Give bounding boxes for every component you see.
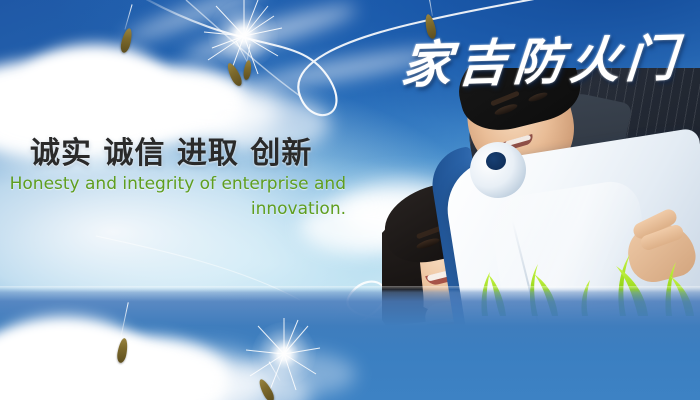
swoosh-trail	[96, 236, 300, 300]
woman-pendant	[444, 344, 457, 357]
grass-blades	[470, 236, 700, 316]
promotional-banner: 家吉防火门 诚实 诚信 进取 创新 Honesty and integrity …	[0, 0, 700, 400]
slogan-english: Honesty and integrity of enterprise and …	[6, 172, 346, 221]
business-people-photo	[382, 68, 700, 400]
dandelion-puff-rays	[246, 316, 324, 394]
brand-calligraphy-title: 家吉防火门	[399, 18, 685, 97]
slogan-chinese: 诚实 诚信 进取 创新	[30, 128, 312, 172]
